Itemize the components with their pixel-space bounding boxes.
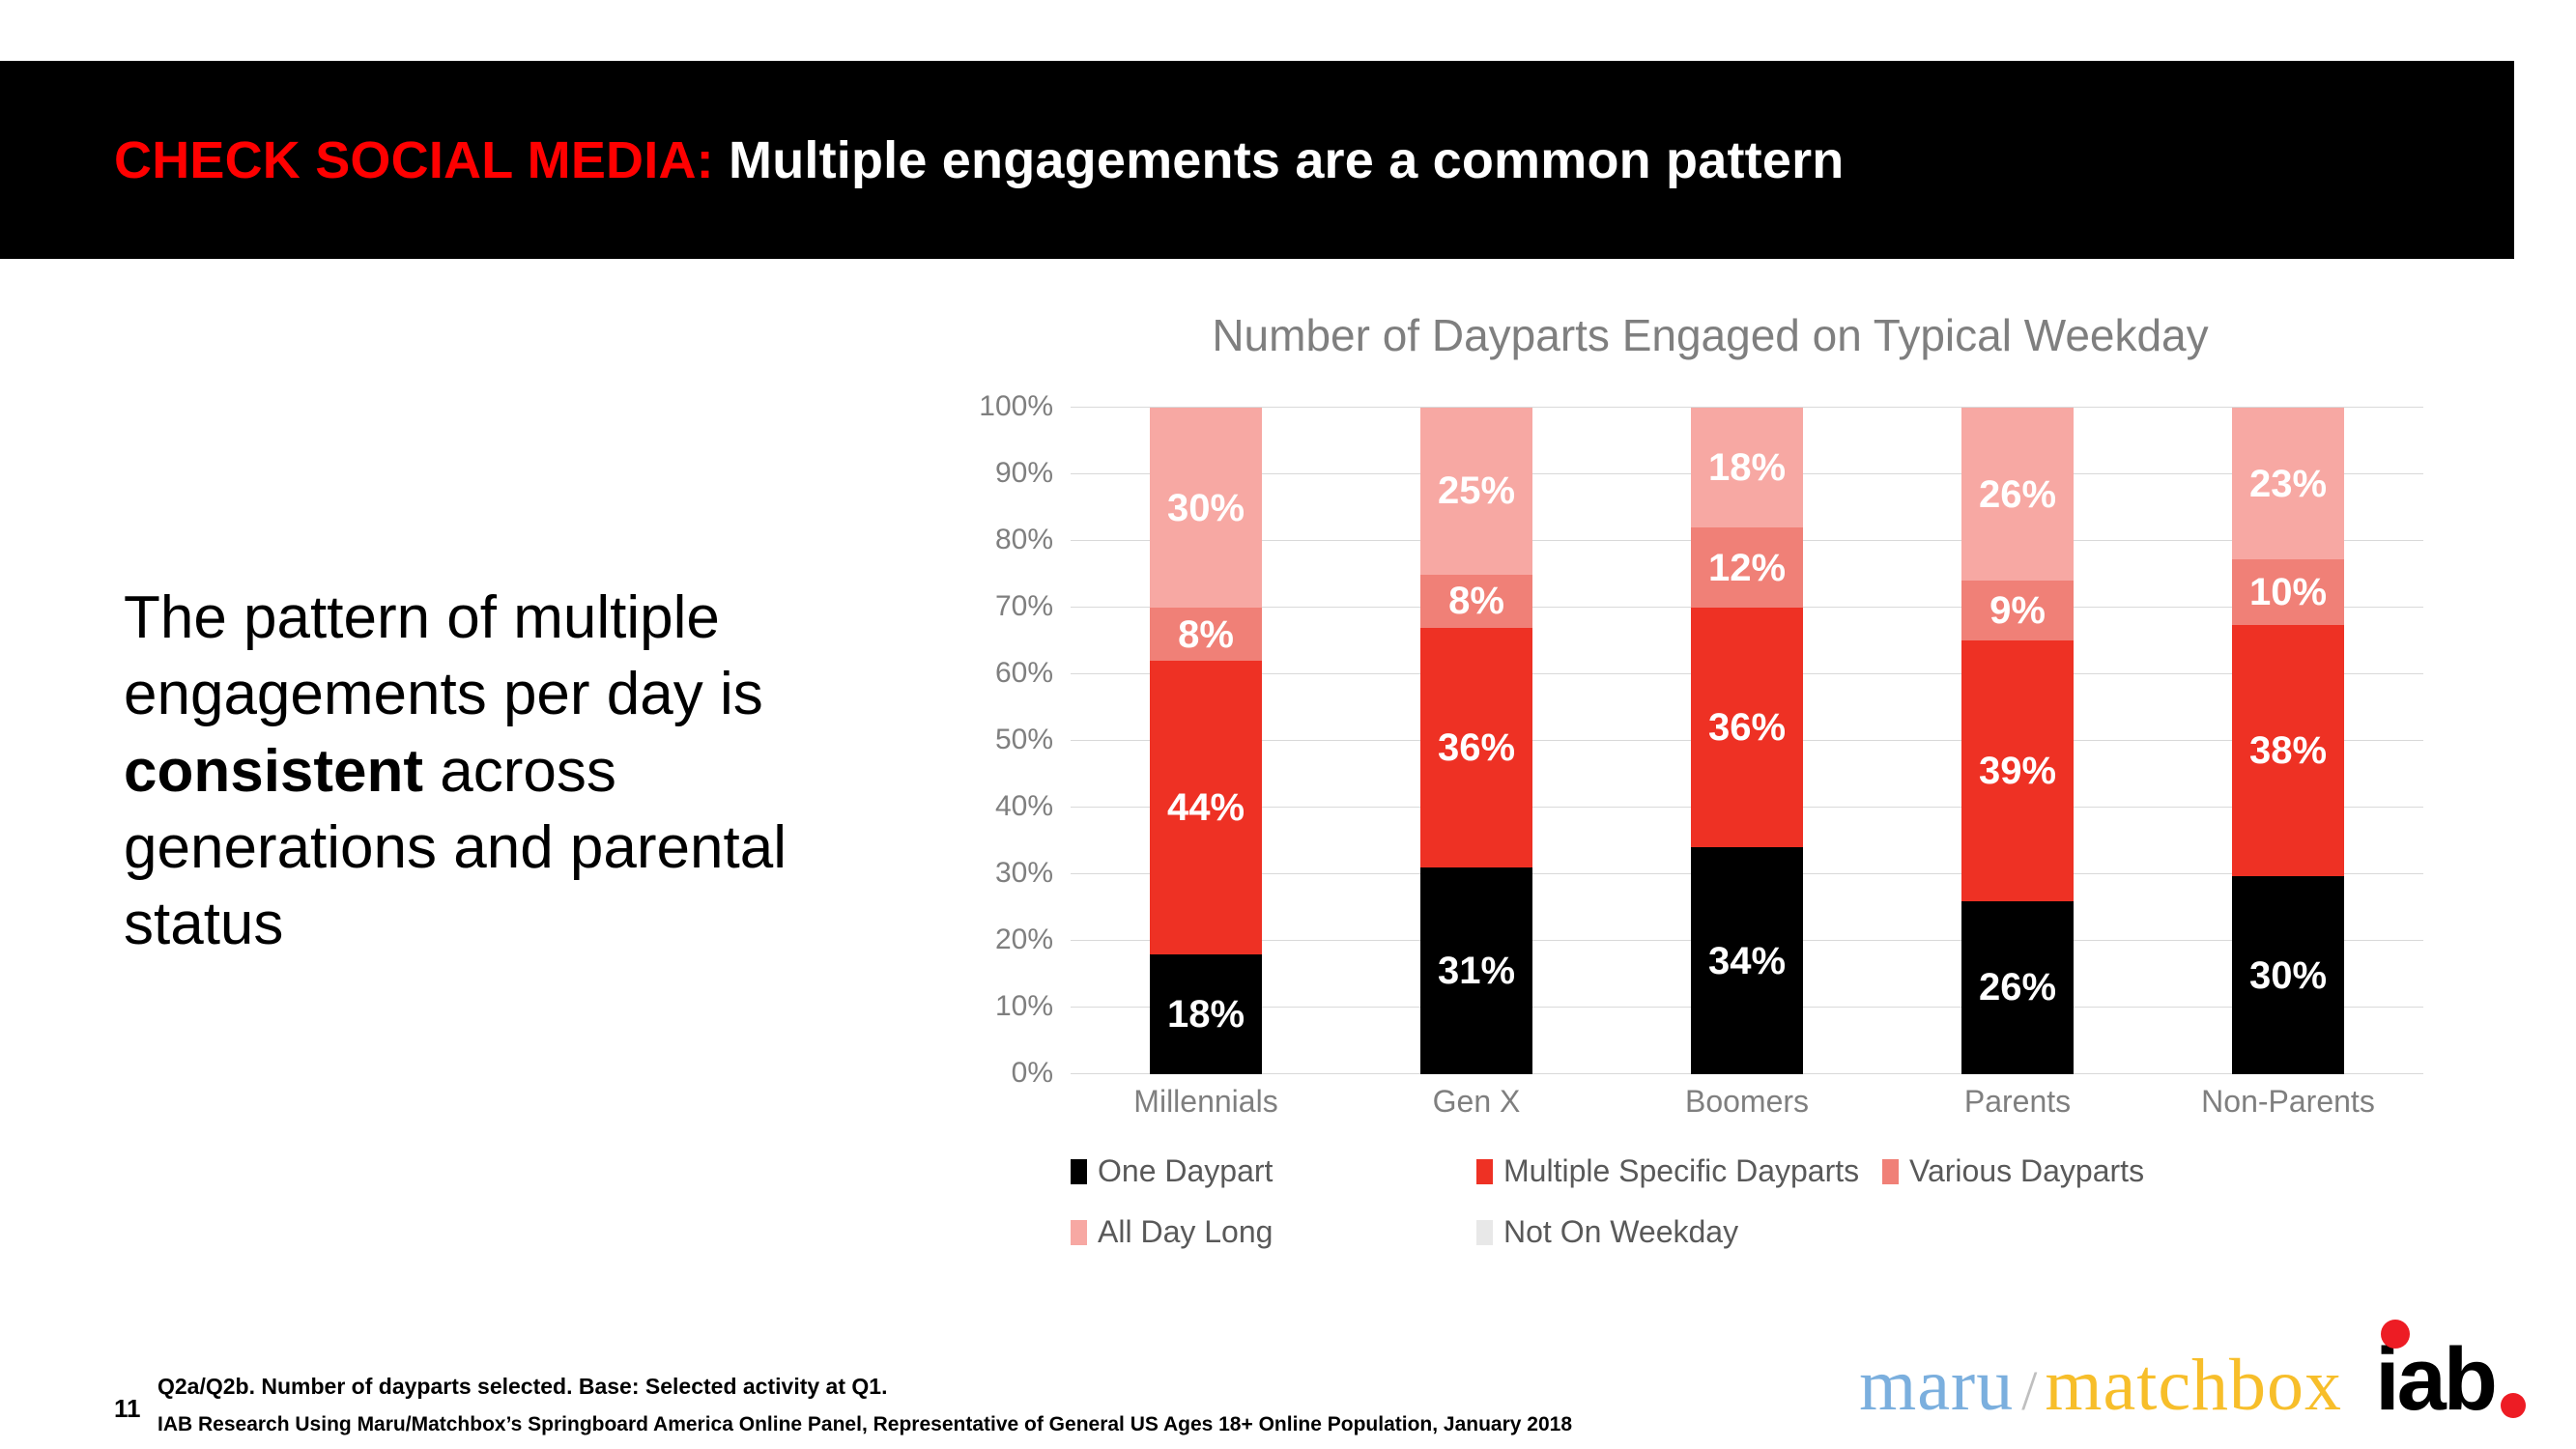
bar-segment-label: 18% xyxy=(1167,995,1245,1034)
slide: CHECK SOCIAL MEDIA: Multiple engagements… xyxy=(0,0,2576,1449)
legend-label: All Day Long xyxy=(1098,1214,1273,1250)
legend-label: Various Dayparts xyxy=(1909,1153,2144,1189)
iab-logo: iab xyxy=(2375,1335,2526,1424)
body-text: The pattern of multiple engagements per … xyxy=(124,580,858,963)
legend-item[interactable]: Not On Weekday xyxy=(1476,1214,1882,1250)
bar-segment[interactable]: 30% xyxy=(2232,876,2344,1074)
iab-dot-icon xyxy=(2381,1320,2410,1349)
bar-segment[interactable]: 36% xyxy=(1420,628,1532,867)
y-axis-tick-label: 0% xyxy=(1012,1057,1053,1090)
legend-label: One Daypart xyxy=(1098,1153,1273,1189)
maru-logo-text: maru xyxy=(1859,1344,2014,1428)
bar-segment[interactable]: 12% xyxy=(1691,527,1803,608)
bars-row: 30%8%44%18%25%8%36%31%18%12%36%34%26%9%3… xyxy=(1071,408,2423,1074)
bar-segment[interactable]: 9% xyxy=(1961,581,2074,640)
legend-row: All Day LongNot On Weekday xyxy=(1071,1214,2423,1250)
bar-column[interactable]: 23%10%38%30% xyxy=(2153,408,2423,1074)
bar-segment[interactable]: 31% xyxy=(1420,867,1532,1074)
bar-segment[interactable]: 23% xyxy=(2232,408,2344,559)
chart-legend: One DaypartMultiple Specific DaypartsVar… xyxy=(1071,1153,2423,1275)
bar-segment-label: 26% xyxy=(1979,968,2056,1007)
legend-swatch-icon xyxy=(1071,1159,1087,1184)
legend-swatch-icon xyxy=(1071,1220,1087,1245)
logo-separator: / xyxy=(2021,1358,2037,1423)
matchbox-logo-text: matchbox xyxy=(2045,1344,2342,1428)
bar-segment[interactable]: 44% xyxy=(1150,661,1262,954)
page-title-accent: CHECK SOCIAL MEDIA: xyxy=(114,131,714,189)
bar-segment-label: 44% xyxy=(1167,788,1245,827)
chart: Number of Dayparts Engaged on Typical We… xyxy=(957,311,2464,1325)
legend-label: Not On Weekday xyxy=(1503,1214,1738,1250)
bar-segment-label: 18% xyxy=(1708,448,1786,487)
bar-segment[interactable]: 38% xyxy=(2232,625,2344,876)
x-axis-tick-label: Boomers xyxy=(1612,1084,1882,1132)
bar-stack: 18%12%36%34% xyxy=(1691,408,1803,1074)
legend-row: One DaypartMultiple Specific DaypartsVar… xyxy=(1071,1153,2423,1189)
bar-segment[interactable]: 26% xyxy=(1961,408,2074,581)
x-axis-tick-label: Non-Parents xyxy=(2153,1084,2423,1132)
bar-segment-label: 34% xyxy=(1708,942,1786,980)
bar-column[interactable]: 25%8%36%31% xyxy=(1341,408,1612,1074)
bar-column[interactable]: 18%12%36%34% xyxy=(1612,408,1882,1074)
y-axis-tick-label: 60% xyxy=(995,657,1053,690)
legend-item[interactable]: Multiple Specific Dayparts xyxy=(1476,1153,1882,1189)
body-text-part1: The pattern of multiple engagements per … xyxy=(124,584,763,727)
y-axis-tick-label: 50% xyxy=(995,724,1053,756)
bar-segment-label: 30% xyxy=(1167,489,1245,527)
y-axis-tick-label: 20% xyxy=(995,923,1053,956)
bar-segment[interactable]: 25% xyxy=(1420,408,1532,575)
legend-label: Multiple Specific Dayparts xyxy=(1503,1153,1859,1189)
bar-segment-label: 10% xyxy=(2249,573,2327,611)
bar-segment[interactable]: 30% xyxy=(1150,408,1262,608)
bar-segment[interactable]: 18% xyxy=(1691,408,1803,527)
page-title-rest: Multiple engagements are a common patter… xyxy=(714,131,1845,189)
bar-stack: 23%10%38%30% xyxy=(2232,408,2344,1074)
body-text-emphasis: consistent xyxy=(124,738,423,805)
bar-segment[interactable]: 8% xyxy=(1420,575,1532,628)
bar-segment-label: 31% xyxy=(1438,952,1515,990)
bar-segment-label: 39% xyxy=(1979,752,2056,790)
page-number: 11 xyxy=(114,1394,141,1424)
legend-swatch-icon xyxy=(1476,1220,1493,1245)
bar-segment-label: 12% xyxy=(1708,549,1786,587)
bar-column[interactable]: 30%8%44%18% xyxy=(1071,408,1341,1074)
legend-swatch-icon xyxy=(1476,1159,1493,1184)
bar-segment[interactable]: 18% xyxy=(1150,954,1262,1074)
bar-segment-label: 8% xyxy=(1448,582,1504,620)
y-axis-tick-label: 10% xyxy=(995,990,1053,1023)
iab-period-icon xyxy=(2501,1393,2526,1418)
y-axis-tick-label: 80% xyxy=(995,524,1053,556)
y-axis-tick-label: 30% xyxy=(995,857,1053,890)
y-axis-tick-label: 70% xyxy=(995,590,1053,623)
legend-item[interactable]: Various Dayparts xyxy=(1882,1153,2144,1189)
bar-segment[interactable]: 26% xyxy=(1961,901,2074,1074)
bar-stack: 26%9%39%26% xyxy=(1961,408,2074,1074)
footnote-source: IAB Research Using Maru/Matchbox’s Sprin… xyxy=(157,1413,1572,1436)
header-band: CHECK SOCIAL MEDIA: Multiple engagements… xyxy=(0,61,2514,259)
x-axis-labels: MillennialsGen XBoomersParentsNon-Parent… xyxy=(1071,1084,2423,1132)
x-axis-tick-label: Parents xyxy=(1882,1084,2153,1132)
y-axis-tick-label: 100% xyxy=(979,390,1053,423)
bar-segment-label: 23% xyxy=(2249,465,2327,503)
plot-area: 0%10%20%30%40%50%60%70%80%90%100% 30%8%4… xyxy=(1071,408,2423,1074)
legend-item[interactable]: All Day Long xyxy=(1071,1214,1476,1250)
bar-segment[interactable]: 36% xyxy=(1691,608,1803,847)
bar-segment-label: 26% xyxy=(1979,475,2056,514)
bar-segment-label: 36% xyxy=(1708,708,1786,747)
x-axis-tick-label: Millennials xyxy=(1071,1084,1341,1132)
bar-segment[interactable]: 34% xyxy=(1691,847,1803,1074)
bar-segment-label: 8% xyxy=(1178,615,1234,654)
page-title: CHECK SOCIAL MEDIA: Multiple engagements… xyxy=(114,134,1844,186)
legend-swatch-icon xyxy=(1882,1159,1899,1184)
bar-segment-label: 38% xyxy=(2249,731,2327,770)
bar-stack: 25%8%36%31% xyxy=(1420,408,1532,1074)
bar-segment-label: 30% xyxy=(2249,956,2327,995)
bar-stack: 30%8%44%18% xyxy=(1150,408,1262,1074)
legend-item[interactable]: One Daypart xyxy=(1071,1153,1476,1189)
chart-title: Number of Dayparts Engaged on Typical We… xyxy=(957,311,2464,360)
bar-segment-label: 9% xyxy=(1989,591,2046,630)
y-axis-tick-label: 90% xyxy=(995,457,1053,490)
bar-column[interactable]: 26%9%39%26% xyxy=(1882,408,2153,1074)
x-axis-tick-label: Gen X xyxy=(1341,1084,1612,1132)
y-axis-tick-label: 40% xyxy=(995,790,1053,823)
footnote-question: Q2a/Q2b. Number of dayparts selected. Ba… xyxy=(157,1374,887,1400)
bar-segment[interactable]: 39% xyxy=(1961,640,2074,900)
bar-segment-label: 36% xyxy=(1438,728,1515,767)
bar-segment[interactable]: 8% xyxy=(1150,608,1262,661)
logo-group: maru / matchbox iab xyxy=(1859,1335,2526,1428)
bar-segment-label: 25% xyxy=(1438,471,1515,510)
bar-segment[interactable]: 10% xyxy=(2232,559,2344,625)
